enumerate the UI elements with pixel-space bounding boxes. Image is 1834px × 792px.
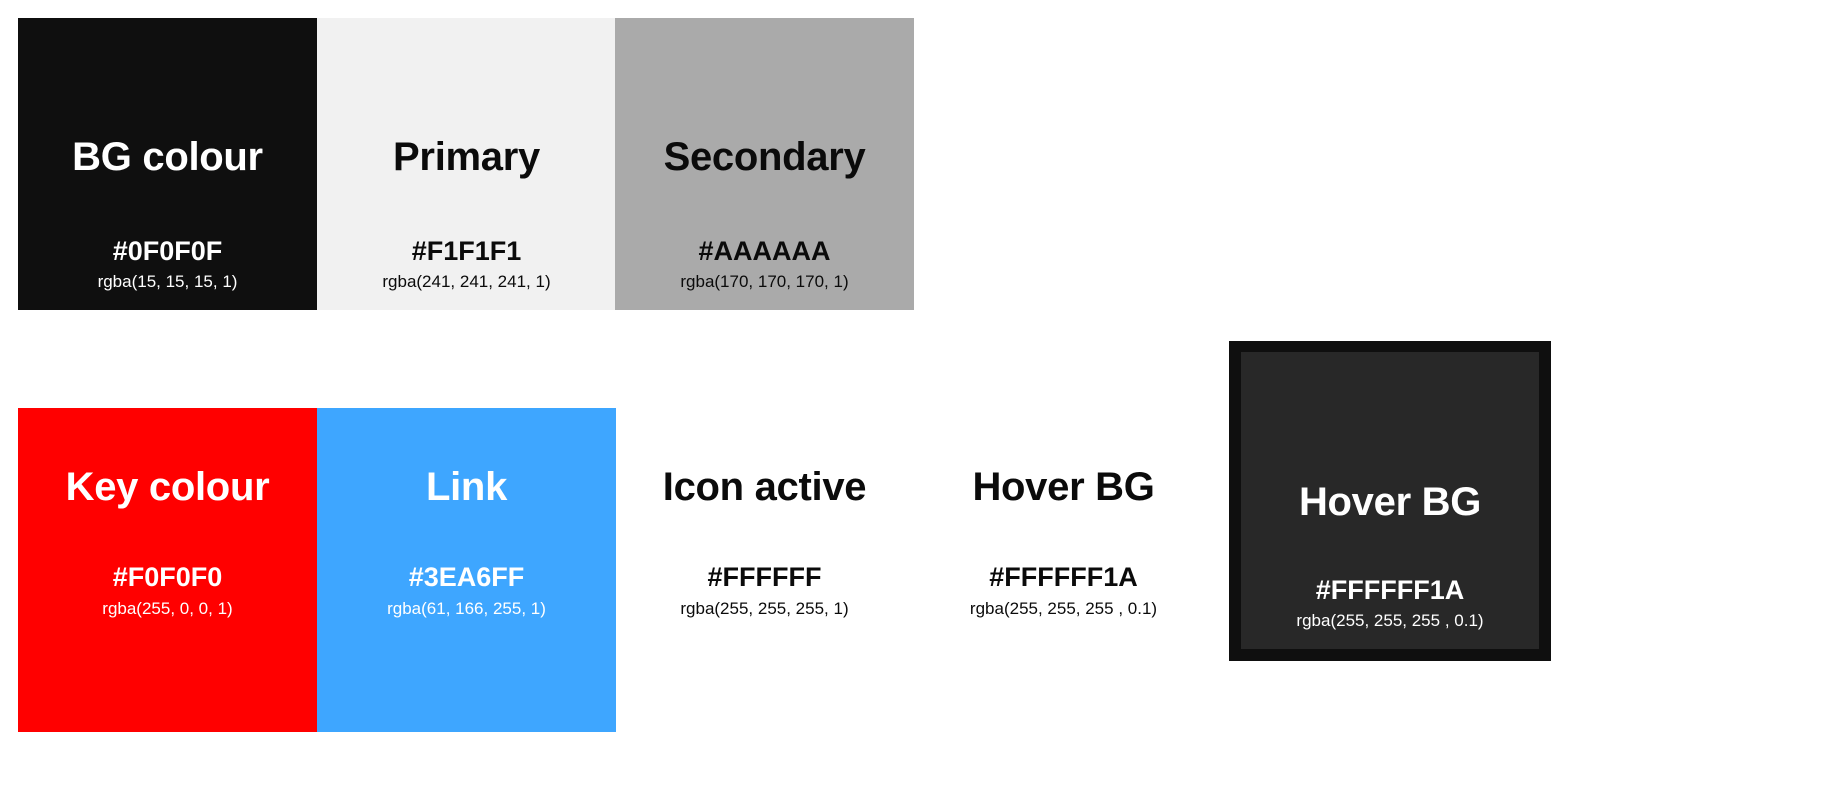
swatch-bg-colour[interactable]: BG colour #0F0F0F rgba(15, 15, 15, 1) xyxy=(18,18,317,310)
swatch-title: Primary xyxy=(317,135,616,179)
swatch-rgba: rgba(255, 0, 0, 1) xyxy=(0,600,337,619)
swatch-title: Secondary xyxy=(615,135,914,179)
swatch-hex: #0F0F0F xyxy=(18,237,317,267)
swatch-title: BG colour xyxy=(18,135,317,179)
swatch-rgba: rgba(61, 166, 255, 1) xyxy=(297,600,636,619)
swatch-title: Link xyxy=(297,465,636,509)
palette-board: BG colour #0F0F0F rgba(15, 15, 15, 1) Pr… xyxy=(0,0,1834,792)
swatch-rgba: rgba(255, 255, 255 , 0.1) xyxy=(1241,612,1539,631)
swatch-hex: #F1F1F1 xyxy=(317,237,616,267)
swatch-rgba: rgba(255, 255, 255, 1) xyxy=(595,600,934,619)
swatch-rgba: rgba(255, 255, 255 , 0.1) xyxy=(894,600,1233,619)
swatch-hex: #FFFFFF1A xyxy=(894,563,1233,593)
swatch-rgba: rgba(241, 241, 241, 1) xyxy=(317,273,616,292)
swatch-primary[interactable]: Primary #F1F1F1 rgba(241, 241, 241, 1) xyxy=(317,18,616,310)
swatch-hex: #F0F0F0 xyxy=(0,563,337,593)
swatch-secondary[interactable]: Secondary #AAAAAA rgba(170, 170, 170, 1) xyxy=(615,18,914,310)
swatch-title: Icon active xyxy=(595,465,934,509)
swatch-hex: #3EA6FF xyxy=(297,563,636,593)
swatch-hex: #AAAAAA xyxy=(615,237,914,267)
swatch-title: Key colour xyxy=(0,465,337,509)
swatch-hex: #FFFFFF xyxy=(595,563,934,593)
swatch-key-colour[interactable]: Key colour #F0F0F0 rgba(255, 0, 0, 1) xyxy=(18,408,317,732)
hover-bg-demo-card[interactable]: Hover BG #FFFFFF1A rgba(255, 255, 255 , … xyxy=(1229,341,1551,661)
swatch-title: Hover BG xyxy=(1241,480,1539,524)
swatch-rgba: rgba(15, 15, 15, 1) xyxy=(18,273,317,292)
swatch-hover-bg[interactable]: Hover BG #FFFFFF1A rgba(255, 255, 255 , … xyxy=(914,408,1213,732)
swatch-title: Hover BG xyxy=(894,465,1233,509)
swatch-icon-active[interactable]: Icon active #FFFFFF rgba(255, 255, 255, … xyxy=(615,408,914,732)
swatch-rgba: rgba(170, 170, 170, 1) xyxy=(615,273,914,292)
swatch-link[interactable]: Link #3EA6FF rgba(61, 166, 255, 1) xyxy=(317,408,616,732)
swatch-hex: #FFFFFF1A xyxy=(1241,576,1539,606)
hover-bg-demo-panel: Hover BG #FFFFFF1A rgba(255, 255, 255 , … xyxy=(1241,352,1539,649)
